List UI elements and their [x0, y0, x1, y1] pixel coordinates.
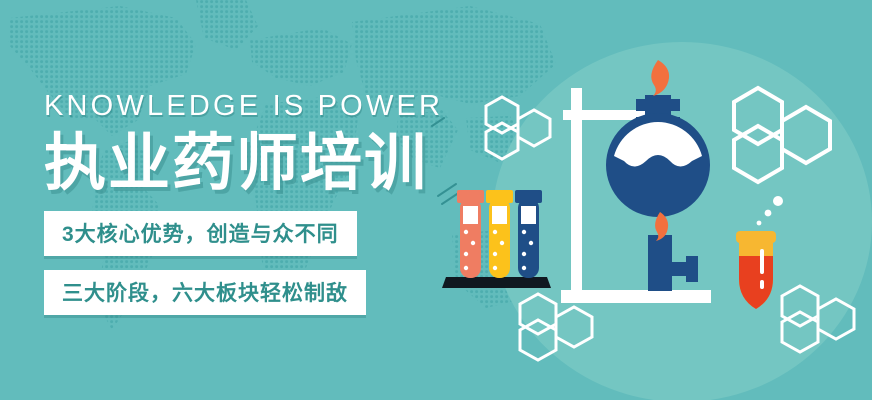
stand-base — [561, 290, 711, 303]
headline-block: KNOWLEDGE IS POWER 执业药师培训 3大核心优势，创造与众不同 … — [44, 92, 464, 315]
subtitle-line-1: 3大核心优势，创造与众不同 — [44, 211, 357, 256]
chemistry-illustration — [430, 0, 872, 400]
hexagon-cluster-top-right — [734, 88, 830, 182]
bubble-large — [773, 196, 783, 206]
bubble-medium — [765, 210, 772, 217]
hexagon-cluster-bottom-left — [520, 294, 592, 360]
tube-label-coral — [463, 206, 478, 224]
flask-clamp-upper — [636, 99, 680, 111]
bubble-small — [757, 221, 762, 226]
centrifuge-liquid — [739, 256, 773, 309]
hexagon-cluster-top-left — [486, 97, 550, 159]
flask-flame-icon — [651, 60, 669, 96]
promo-banner: KNOWLEDGE IS POWER 执业药师培训 3大核心优势，创造与众不同 … — [0, 0, 872, 400]
bubble-group — [757, 196, 783, 225]
bunsen-burner — [648, 212, 698, 291]
subtitle-line-2: 三大阶段，六大板块轻松制敌 — [44, 270, 366, 315]
tube-label-navy — [521, 206, 536, 224]
test-tube-navy — [515, 190, 542, 278]
hexagon-cluster-bottom-right — [782, 286, 854, 352]
test-tube-rack — [442, 190, 551, 288]
dash-accent-decoration — [432, 118, 460, 204]
centrifuge-tube — [736, 231, 776, 309]
centrifuge-highlight-long — [760, 249, 764, 274]
test-tube-yellow — [486, 190, 513, 278]
burner-knob — [686, 256, 698, 282]
rack-tray — [442, 277, 551, 288]
page-title: 执业药师培训 — [44, 133, 464, 195]
round-bottom-flask — [606, 60, 710, 217]
burner-body — [648, 235, 672, 291]
centrifuge-highlight-short — [760, 280, 764, 289]
tube-label-yellow — [492, 206, 507, 224]
test-tube-coral — [457, 190, 484, 278]
eyebrow-text: KNOWLEDGE IS POWER — [44, 92, 464, 121]
